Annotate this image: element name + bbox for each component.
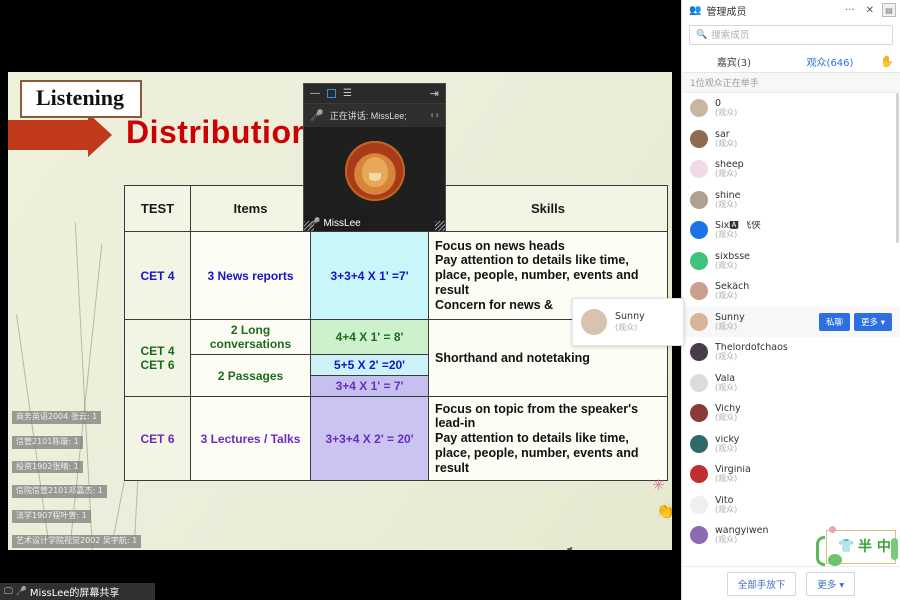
close-icon[interactable]: ✕ — [863, 5, 877, 16]
participant-list[interactable]: 0(观众)私聊更多 ▾sar(观众)私聊更多 ▾sheep(观众)私聊更多 ▾s… — [682, 93, 900, 566]
tab-audience[interactable]: 观众(646) — [782, 54, 878, 69]
private-chat-button[interactable]: 私聊 — [819, 313, 850, 331]
lion-avatar — [345, 141, 405, 201]
avatar — [690, 374, 708, 392]
search-icon: 🔍 — [696, 30, 707, 40]
mouse-cursor — [567, 546, 579, 550]
attendance-tag: 投资1902张晴: 1 — [12, 461, 83, 474]
slide-badge: Listening — [20, 80, 142, 118]
restore-icon[interactable] — [327, 89, 336, 98]
cell-test: CET 6 — [125, 397, 191, 481]
participant-role: (观众) — [715, 445, 739, 453]
red-arrow-decoration — [8, 120, 88, 150]
avatar — [690, 465, 708, 483]
participant-tooltip-card: Sunny (观众) — [572, 298, 684, 346]
participant-row[interactable]: Vichy(观众)私聊更多 ▾ — [682, 398, 900, 429]
row-more-button[interactable]: 更多 ▾ — [854, 313, 892, 331]
avatar — [690, 191, 708, 209]
cell-items: 3 Lectures / Talks — [191, 397, 311, 481]
list-view-icon[interactable]: ☰ — [343, 89, 352, 99]
th-items: Items — [191, 186, 311, 232]
participant-row[interactable]: Sunny(观众)私聊更多 ▾ — [682, 307, 900, 338]
participant-row[interactable]: Virginia(观众)私聊更多 ▾ — [682, 459, 900, 490]
participant-role: (观众) — [715, 414, 741, 422]
table-row: CET 6 3 Lectures / Talks 3+3+4 X 2' = 20… — [125, 397, 668, 481]
participant-row[interactable]: sheep(观众)私聊更多 ▾ — [682, 154, 900, 185]
participant-role: (观众) — [715, 292, 749, 300]
avatar — [690, 496, 708, 514]
attendance-tag: 信管2101陈璇: 1 — [12, 436, 83, 449]
tab-guests[interactable]: 嘉宾(3) — [686, 54, 782, 69]
panel-toggle-icon[interactable]: ▤ — [882, 3, 896, 17]
video-window-controls[interactable]: — ☰ ⇥ — [304, 84, 445, 103]
cell-time-a: 4+4 X 1' = 8' — [311, 320, 429, 355]
clap-hand-icon: 👏 — [656, 502, 672, 520]
search-area: 🔍 — [682, 20, 900, 51]
participant-row[interactable]: Vito(观众)私聊更多 ▾ — [682, 490, 900, 521]
avatar — [690, 404, 708, 422]
panel-tabs[interactable]: 嘉宾(3) 观众(646) ✋ — [682, 51, 900, 73]
participant-row[interactable]: sar(观众)私聊更多 ▾ — [682, 124, 900, 155]
panel-header: 👥 管理成员 ··· ✕ ▤ — [682, 0, 900, 20]
cell-time-b: 5+5 X 2' =20' — [311, 355, 429, 376]
cell-items-b: 2 Passages — [191, 355, 311, 397]
panel-footer: 全部手放下 更多 ▾ — [682, 566, 900, 600]
search-input[interactable] — [711, 30, 886, 41]
participant-row[interactable]: sixbsse(观众)私聊更多 ▾ — [682, 246, 900, 277]
attendance-tag-list: 商务英语2004 张云: 1信管2101陈璇: 1投资1902张晴: 1信院信管… — [12, 406, 132, 550]
more-dots-icon[interactable]: ··· — [842, 5, 858, 16]
avatar — [690, 282, 708, 300]
participant-role: (观众) — [715, 506, 737, 514]
avatar — [690, 221, 708, 239]
screen-share-icon: 🖵 — [4, 587, 13, 597]
participant-row[interactable]: shine(观众)私聊更多 ▾ — [682, 185, 900, 216]
audio-wave-icon: ◖◖ — [429, 110, 439, 121]
confetti-icon: ✳ — [652, 476, 665, 494]
tooltip-role: (观众) — [615, 322, 645, 333]
mic-icon: 🎤 — [16, 587, 27, 597]
participant-row[interactable]: Sekäch(观众)私聊更多 ▾ — [682, 276, 900, 307]
footer-more-button[interactable]: 更多 ▾ — [806, 572, 855, 596]
cell-test: CET 4 CET 6 — [125, 320, 191, 397]
participant-role: (观众) — [715, 231, 761, 239]
avatar — [690, 313, 708, 331]
speaking-status-bar: 🎤 正在讲话: MissLee; ◖◖ — [304, 103, 445, 127]
avatar — [690, 252, 708, 270]
participant-row[interactable]: Thelordofchaos(观众)私聊更多 ▾ — [682, 337, 900, 368]
cell-skills: Focus on topic from the speaker's lead-i… — [429, 397, 668, 481]
participant-role: (观众) — [715, 323, 745, 331]
cell-items: 3 News reports — [191, 232, 311, 320]
participant-row[interactable]: 0(观众)私聊更多 ▾ — [682, 93, 900, 124]
participant-role: (观众) — [715, 201, 740, 209]
people-icon: 👥 — [689, 5, 701, 16]
layout-icon[interactable]: ⇥ — [430, 87, 439, 100]
participant-row[interactable]: wangyiwen(观众)私聊更多 ▾ — [682, 520, 900, 551]
participant-row[interactable]: Six🅰 飞侠(观众)私聊更多 ▾ — [682, 215, 900, 246]
panel-title: 管理成员 — [706, 3, 746, 18]
participant-role: (观众) — [715, 475, 751, 483]
raise-hand-notice: 1位观众正在举手 — [682, 73, 900, 93]
participant-row[interactable]: vicky(观众)私聊更多 ▾ — [682, 429, 900, 460]
cell-time: 3+3+4 X 1' =7' — [311, 232, 429, 320]
attendance-tag: 法学1907程叶曾: 1 — [12, 510, 91, 523]
search-box[interactable]: 🔍 — [689, 25, 893, 45]
avatar — [690, 435, 708, 453]
cell-test: CET 4 — [125, 232, 191, 320]
resize-handle[interactable] — [304, 221, 314, 231]
participant-role: (观众) — [715, 353, 788, 361]
attendance-tag: 商务英语2004 张云: 1 — [12, 411, 101, 424]
participant-role: (观众) — [715, 170, 744, 178]
avatar — [690, 526, 708, 544]
participant-role: (观众) — [715, 536, 769, 544]
avatar — [690, 160, 708, 178]
participant-role: (观众) — [715, 262, 750, 270]
screen-share-label: MissLee的屏幕共享 — [30, 584, 120, 599]
cell-time: 3+3+4 X 2' = 20' — [311, 397, 429, 481]
lower-all-hands-button[interactable]: 全部手放下 — [727, 572, 797, 596]
th-skills: Skills — [429, 186, 668, 232]
attendance-tag: 信院信管2101邓嘉杰: 1 — [12, 485, 107, 498]
attendance-tag: 艺术设计学院视觉2002 吴宇航: 1 — [12, 535, 141, 548]
th-test: TEST — [125, 186, 191, 232]
participant-role: (观众) — [715, 140, 737, 148]
cell-items-a: 2 Long conversations — [191, 320, 311, 355]
resize-handle[interactable] — [435, 221, 445, 231]
avatar — [581, 309, 607, 335]
screen-share-status-bar: 🖵 🎤 MissLee的屏幕共享 — [0, 583, 155, 600]
minimize-icon[interactable]: — — [310, 89, 320, 99]
participant-actions: 私聊更多 ▾ — [819, 313, 892, 331]
speaking-label: 正在讲话: MissLee; — [330, 109, 407, 122]
participant-row[interactable]: Vala(观众)私聊更多 ▾ — [682, 368, 900, 399]
video-body: 🎤 MissLee — [304, 127, 445, 231]
tooltip-name: Sunny — [615, 311, 645, 322]
participant-role: (观众) — [715, 109, 737, 117]
slide-title: Distribution — [126, 114, 312, 151]
participants-panel: 👥 管理成员 ··· ✕ ▤ 🔍 嘉宾(3) 观众(646) ✋ 1位观众正在举… — [681, 0, 900, 600]
video-participant-name: MissLee — [323, 218, 360, 229]
floating-video-window[interactable]: — ☰ ⇥ 🎤 正在讲话: MissLee; ◖◖ 🎤 MissLee — [303, 83, 446, 231]
participant-role: (观众) — [715, 384, 737, 392]
avatar — [690, 343, 708, 361]
raise-hand-icon[interactable]: ✋ — [878, 55, 896, 68]
mic-muted-icon: 🎤 — [310, 109, 324, 122]
avatar — [690, 130, 708, 148]
avatar — [690, 99, 708, 117]
cell-time-c: 3+4 X 1' = 7' — [311, 376, 429, 397]
